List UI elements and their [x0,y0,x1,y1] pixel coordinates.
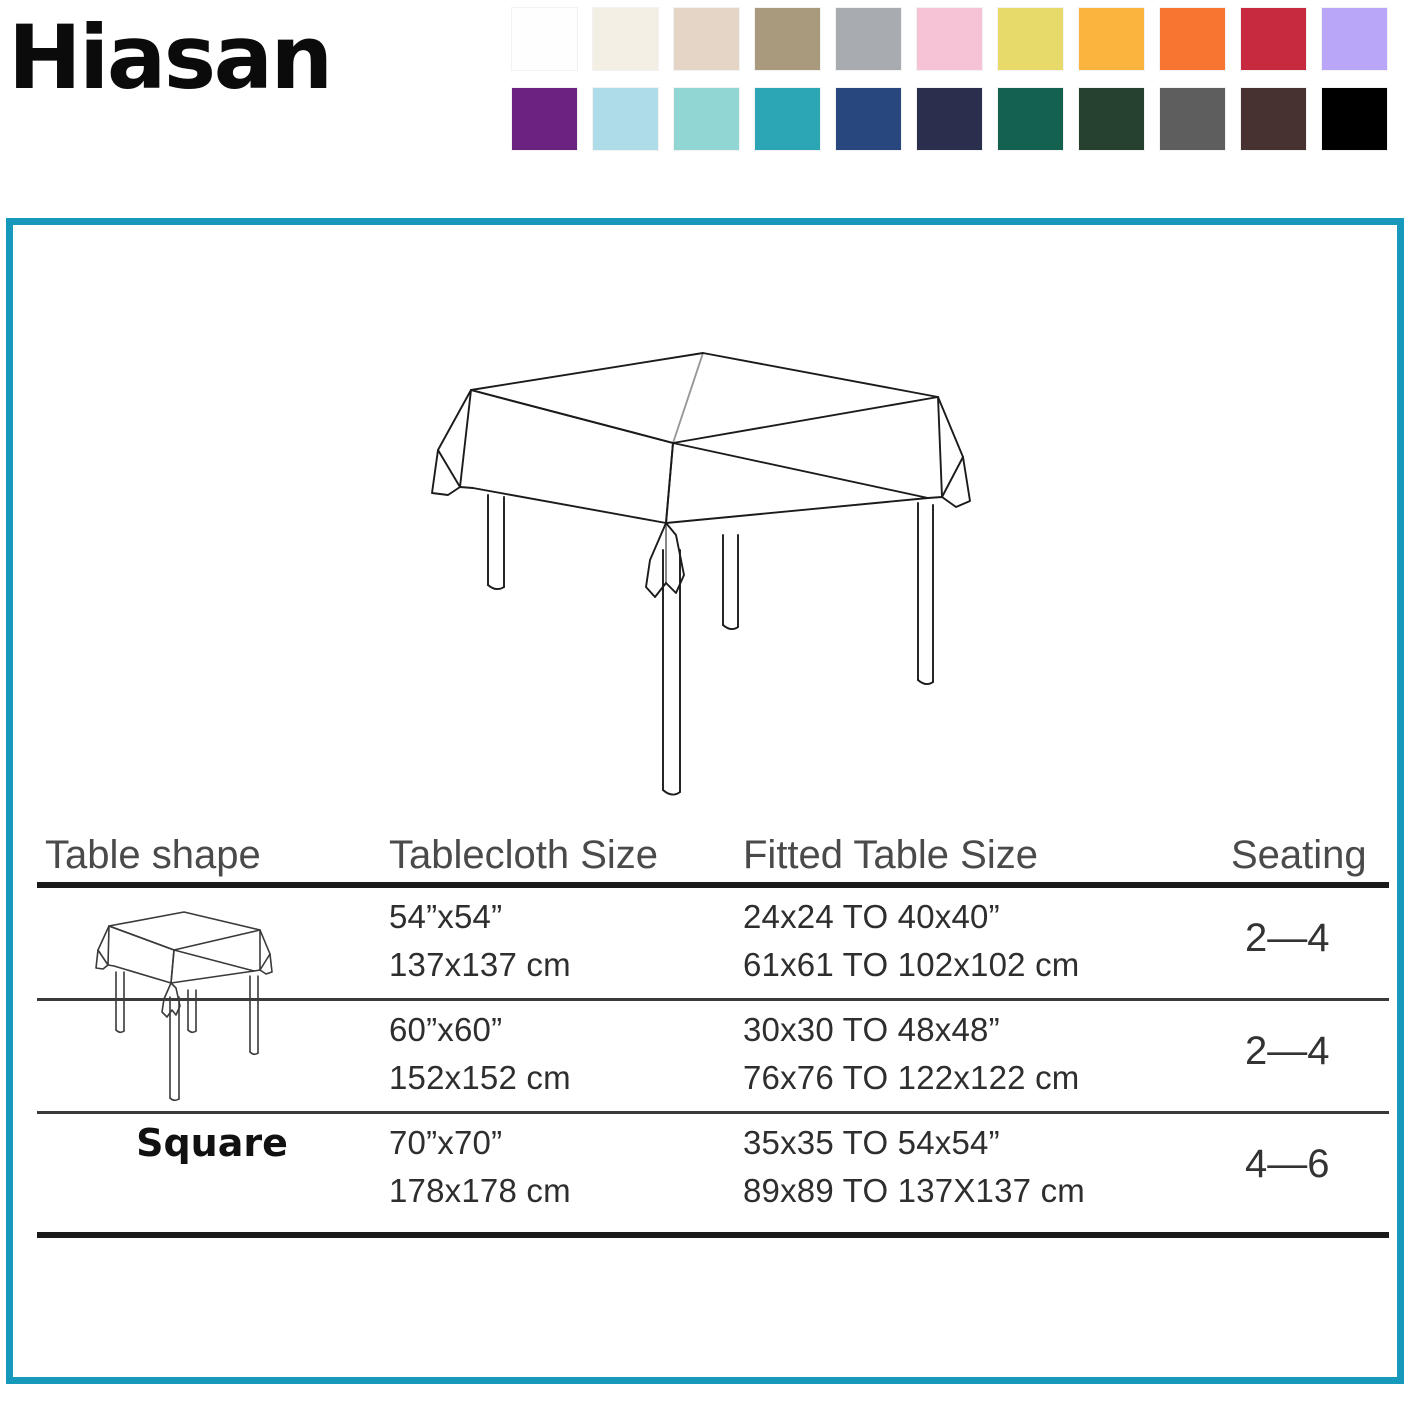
color-swatch-black[interactable] [1322,88,1387,150]
column-header-tablecloth-size: Tablecloth Size [389,833,658,878]
table-body: Square 54”x54” 137x137 cm 24x24 TO 40x40… [37,888,1389,1238]
cell-tablecloth-size-inches: 60”x60” [389,1011,502,1049]
header: Hiasan [0,0,1416,200]
cell-tablecloth-size-cm: 137x137 cm [389,946,571,984]
cell-tablecloth-size-cm: 178x178 cm [389,1172,571,1210]
square-table-illustration [418,335,988,805]
color-swatch-aqua[interactable] [674,88,739,150]
table-row: 60”x60” 152x152 cm 30x30 TO 48x48” 76x76… [37,1001,1389,1111]
cell-tablecloth-size-inches: 70”x70” [389,1124,502,1162]
color-swatch-gray[interactable] [836,8,901,70]
cell-fitted-size-cm: 61x61 TO 102x102 cm [743,946,1079,984]
color-swatch-teal[interactable] [755,88,820,150]
color-swatch-row-2 [512,88,1408,150]
color-swatch-dark-brown[interactable] [1241,88,1306,150]
content-frame: Table shape Tablecloth Size Fitted Table… [6,218,1404,1384]
cell-seating: 2—4 [1245,916,1330,961]
table-row: 54”x54” 137x137 cm 24x24 TO 40x40” 61x61… [37,888,1389,998]
cell-fitted-size-inches: 35x35 TO 54x54” [743,1124,1000,1162]
color-swatch-purple[interactable] [512,88,577,150]
cell-seating: 2—4 [1245,1029,1330,1074]
cell-fitted-size-inches: 30x30 TO 48x48” [743,1011,1000,1049]
cell-tablecloth-size-inches: 54”x54” [389,898,502,936]
color-swatch-lavender[interactable] [1322,8,1387,70]
color-swatch-pink[interactable] [917,8,982,70]
color-swatch-steel-blue[interactable] [836,88,901,150]
cell-fitted-size-cm: 76x76 TO 122x122 cm [743,1059,1079,1097]
table-bottom-divider [37,1232,1389,1238]
color-swatch-red[interactable] [1241,8,1306,70]
color-swatch-ivory[interactable] [593,8,658,70]
sizing-table: Table shape Tablecloth Size Fitted Table… [37,810,1389,1238]
brand-logo: Hiasan [8,14,331,102]
color-swatch-gold[interactable] [1079,8,1144,70]
color-swatch-taupe[interactable] [755,8,820,70]
color-swatch-navy[interactable] [917,88,982,150]
column-header-seating: Seating [1231,833,1367,878]
color-swatch-dark-green[interactable] [1079,88,1144,150]
color-swatch-white[interactable] [512,8,577,70]
cell-fitted-size-cm: 89x89 TO 137X137 cm [743,1172,1085,1210]
cell-tablecloth-size-cm: 152x152 cm [389,1059,571,1097]
cell-seating: 4—6 [1245,1142,1330,1187]
color-swatch-yellow[interactable] [998,8,1063,70]
column-header-table-shape: Table shape [45,833,261,878]
color-swatch-dark-gray[interactable] [1160,88,1225,150]
color-swatch-panel [512,8,1408,168]
color-swatch-light-blue[interactable] [593,88,658,150]
product-infographic: Hiasan [0,0,1416,1402]
color-swatch-beige[interactable] [674,8,739,70]
color-swatch-row-1 [512,8,1408,70]
table-row: 70”x70” 178x178 cm 35x35 TO 54x54” 89x89… [37,1114,1389,1232]
column-header-fitted-table-size: Fitted Table Size [743,833,1038,878]
cell-fitted-size-inches: 24x24 TO 40x40” [743,898,1000,936]
color-swatch-orange[interactable] [1160,8,1225,70]
table-header-row: Table shape Tablecloth Size Fitted Table… [37,810,1389,882]
color-swatch-emerald[interactable] [998,88,1063,150]
